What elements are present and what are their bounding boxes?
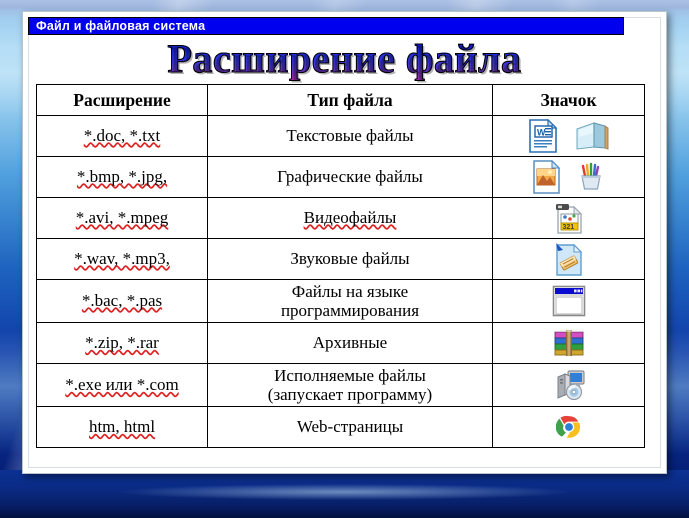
cell-filetype: Исполняемые файлы (запускает программу) bbox=[208, 364, 493, 407]
audio-file-icon bbox=[554, 241, 584, 277]
background-bottom-glow bbox=[120, 484, 569, 500]
executable-install-icon bbox=[552, 369, 586, 401]
column-header-icon: Значок bbox=[493, 85, 645, 116]
table-row: *.bac, *.pas Файлы на языке программиров… bbox=[37, 280, 645, 323]
page-title: Расширение файла bbox=[23, 36, 666, 82]
cell-icons: 321 bbox=[493, 198, 645, 239]
file-extension-table: Расширение Тип файла Значок *.doc, *.txt… bbox=[36, 84, 645, 448]
cell-extension: *.bac, *.pas bbox=[37, 280, 208, 323]
word-document-icon: W bbox=[528, 119, 558, 153]
table-row: *.doc, *.txt Текстовые файлы W bbox=[37, 116, 645, 157]
winrar-archive-icon bbox=[553, 329, 585, 357]
cell-filetype: Видеофайлы bbox=[208, 198, 493, 239]
cell-extension: *.exe или *.com bbox=[37, 364, 208, 407]
cell-filetype-line2: (запускает программу) bbox=[212, 385, 488, 404]
cell-icons bbox=[493, 323, 645, 364]
program-window-icon bbox=[552, 285, 586, 317]
column-header-filetype: Тип файла bbox=[208, 85, 493, 116]
svg-text:W: W bbox=[537, 128, 546, 138]
table-row: *.avi, *.mpeg Видеофайлы bbox=[37, 198, 645, 239]
cell-icons bbox=[493, 157, 645, 198]
cell-extension: *.bmp, *.jpg, bbox=[37, 157, 208, 198]
cell-extension: *.doc, *.txt bbox=[37, 116, 208, 157]
cell-filetype-line1: Файлы на языке bbox=[212, 282, 488, 301]
cell-filetype: Архивные bbox=[208, 323, 493, 364]
cell-icons bbox=[493, 407, 645, 448]
cell-extension: htm, html bbox=[37, 407, 208, 448]
cell-filetype-line2: программирования bbox=[212, 301, 488, 320]
cell-filetype: Web-страницы bbox=[208, 407, 493, 448]
cell-extension: *.zip, *.rar bbox=[37, 323, 208, 364]
svg-text:321: 321 bbox=[562, 224, 574, 231]
background-bottom-bar bbox=[0, 470, 689, 518]
table-row: *.zip, *.rar Архивные bbox=[37, 323, 645, 364]
cell-extension: *.wav, *.mp3, bbox=[37, 239, 208, 280]
table-row: *.wav, *.mp3, Звуковые файлы bbox=[37, 239, 645, 280]
cell-filetype: Файлы на языке программирования bbox=[208, 280, 493, 323]
titlebar: Файл и файловая система bbox=[28, 17, 624, 35]
titlebar-label: Файл и файловая система bbox=[36, 19, 205, 33]
notepad-icon bbox=[574, 121, 610, 151]
cell-filetype: Текстовые файлы bbox=[208, 116, 493, 157]
cell-icons bbox=[493, 280, 645, 323]
column-header-extension: Расширение bbox=[37, 85, 208, 116]
slide-window: Файл и файловая система Расширение файла… bbox=[22, 11, 667, 474]
chrome-browser-icon bbox=[556, 414, 582, 440]
table-row: *.bmp, *.jpg, Графические файлы bbox=[37, 157, 645, 198]
cell-filetype: Звуковые файлы bbox=[208, 239, 493, 280]
cell-icons: W bbox=[493, 116, 645, 157]
table-row: *.exe или *.com Исполняемые файлы (запус… bbox=[37, 364, 645, 407]
paint-brushes-icon bbox=[576, 162, 606, 192]
cell-filetype: Графические файлы bbox=[208, 157, 493, 198]
page-title-text: Расширение файла bbox=[163, 36, 525, 81]
cell-filetype-line1: Исполняемые файлы bbox=[212, 366, 488, 385]
cell-icons bbox=[493, 239, 645, 280]
image-file-icon bbox=[532, 160, 560, 194]
cell-icons bbox=[493, 364, 645, 407]
table-row: htm, html Web-страницы bbox=[37, 407, 645, 448]
cell-extension: *.avi, *.mpeg bbox=[37, 198, 208, 239]
video-file-icon: 321 bbox=[554, 202, 584, 234]
table-header-row: Расширение Тип файла Значок bbox=[37, 85, 645, 116]
